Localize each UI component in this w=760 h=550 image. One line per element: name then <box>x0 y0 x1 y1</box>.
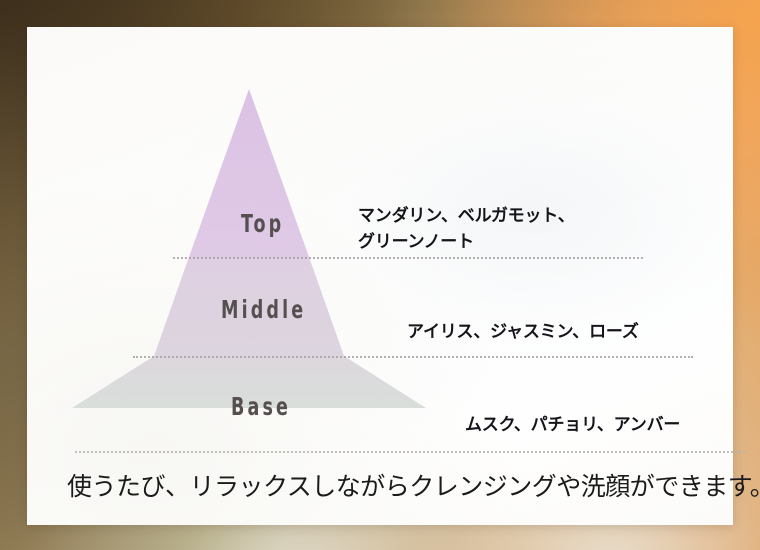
pyramid-label-base: Base <box>231 392 291 421</box>
divider-base-bottom <box>75 451 745 453</box>
notes-base: ムスク、パチョリ、アンバー <box>465 413 680 439</box>
pyramid-label-top: Top <box>241 209 284 238</box>
caption-text: 使うたび、リラックスしながらクレンジングや洗顔ができます。 <box>67 467 760 503</box>
divider-middle-base <box>133 356 693 358</box>
pyramid-label-middle: Middle <box>221 295 306 324</box>
fragrance-pyramid: Top Middle Base マンダリン、ベルガモット、 グリーンノート アイ… <box>45 62 705 422</box>
notes-top: マンダリン、ベルガモット、 グリーンノート <box>358 204 575 255</box>
notes-middle: アイリス、ジャスミン、ローズ <box>407 320 639 346</box>
divider-top-middle <box>173 257 643 259</box>
content-card: Top Middle Base マンダリン、ベルガモット、 グリーンノート アイ… <box>27 27 733 525</box>
page-root: Top Middle Base マンダリン、ベルガモット、 グリーンノート アイ… <box>0 0 760 550</box>
